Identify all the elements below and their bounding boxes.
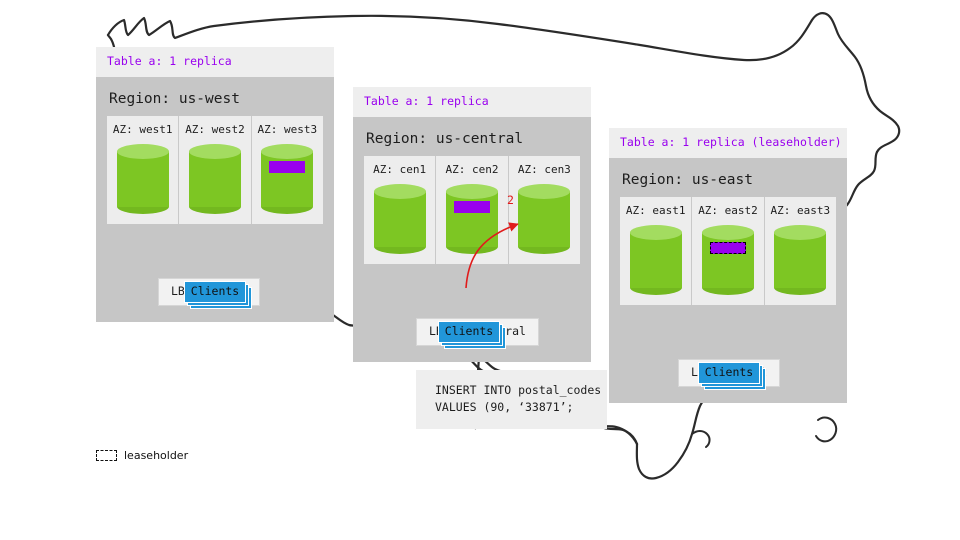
legend-label: leaseholder bbox=[124, 450, 188, 461]
replica-marker bbox=[269, 161, 305, 173]
region-title: Region: us-central bbox=[364, 126, 580, 157]
clients-label: Clients bbox=[438, 321, 500, 343]
az-row: AZ: west1 AZ: west2 AZ: west3 bbox=[107, 116, 323, 224]
sql-statement-box: INSERT INTO postal_codes VALUES (90, ‘33… bbox=[416, 370, 607, 429]
az-row: AZ: east1 AZ: east2 AZ: east3 bbox=[620, 197, 836, 305]
node-cylinder-icon[interactable] bbox=[774, 225, 826, 295]
az-label: AZ: cen2 bbox=[440, 164, 503, 175]
az-label: AZ: west1 bbox=[111, 124, 174, 135]
diagram-canvas: Table a: 1 replica Region: us-west AZ: w… bbox=[0, 0, 960, 540]
az-cell-east1[interactable]: AZ: east1 bbox=[620, 197, 692, 305]
node-cylinder-icon[interactable] bbox=[117, 144, 169, 214]
az-row: AZ: cen1 AZ: cen2 AZ: cen3 bbox=[364, 156, 580, 264]
az-label: AZ: west3 bbox=[256, 124, 319, 135]
clients-label: Clients bbox=[698, 362, 760, 384]
legend: leaseholder bbox=[96, 450, 188, 461]
az-label: AZ: west2 bbox=[183, 124, 246, 135]
az-label: AZ: cen1 bbox=[368, 164, 431, 175]
az-cell-cen3[interactable]: AZ: cen3 bbox=[509, 156, 580, 264]
clients-button-us-west[interactable]: Clients bbox=[184, 281, 246, 303]
az-label: AZ: east2 bbox=[696, 205, 759, 216]
node-cylinder-icon[interactable] bbox=[446, 184, 498, 254]
az-label: AZ: east1 bbox=[624, 205, 687, 216]
az-cell-cen2[interactable]: AZ: cen2 bbox=[436, 156, 508, 264]
az-cell-west3[interactable]: AZ: west3 bbox=[252, 116, 323, 224]
replica-marker bbox=[454, 201, 490, 213]
node-cylinder-icon[interactable] bbox=[630, 225, 682, 295]
region-panel-us-west: Table a: 1 replica Region: us-west AZ: w… bbox=[96, 47, 334, 322]
az-cell-west2[interactable]: AZ: west2 bbox=[179, 116, 251, 224]
az-label: AZ: east3 bbox=[769, 205, 832, 216]
node-cylinder-icon[interactable] bbox=[702, 225, 754, 295]
region-header-label: Table a: 1 replica bbox=[96, 47, 334, 77]
node-cylinder-icon[interactable] bbox=[189, 144, 241, 214]
az-cell-west1[interactable]: AZ: west1 bbox=[107, 116, 179, 224]
region-panel-us-central: Table a: 1 replica Region: us-central AZ… bbox=[353, 87, 591, 362]
node-cylinder-icon[interactable] bbox=[518, 184, 570, 254]
az-label: AZ: cen3 bbox=[513, 164, 576, 175]
node-cylinder-icon[interactable] bbox=[261, 144, 313, 214]
region-panel-us-east: Table a: 1 replica (leaseholder) Region:… bbox=[609, 128, 847, 403]
clients-button-us-central[interactable]: Clients bbox=[438, 321, 500, 343]
region-title: Region: us-east bbox=[620, 167, 836, 198]
dashed-rect-icon bbox=[96, 450, 117, 461]
az-cell-east3[interactable]: AZ: east3 bbox=[765, 197, 836, 305]
node-cylinder-icon[interactable] bbox=[374, 184, 426, 254]
clients-button-us-east[interactable]: Clients bbox=[698, 362, 760, 384]
replica-marker-leaseholder bbox=[710, 242, 746, 254]
region-header-label: Table a: 1 replica bbox=[353, 87, 591, 117]
az-cell-cen1[interactable]: AZ: cen1 bbox=[364, 156, 436, 264]
clients-label: Clients bbox=[184, 281, 246, 303]
az-cell-east2[interactable]: AZ: east2 bbox=[692, 197, 764, 305]
region-header-label: Table a: 1 replica (leaseholder) bbox=[609, 128, 847, 158]
arrow-step-label: 2 bbox=[507, 195, 514, 207]
region-title: Region: us-west bbox=[107, 86, 323, 117]
